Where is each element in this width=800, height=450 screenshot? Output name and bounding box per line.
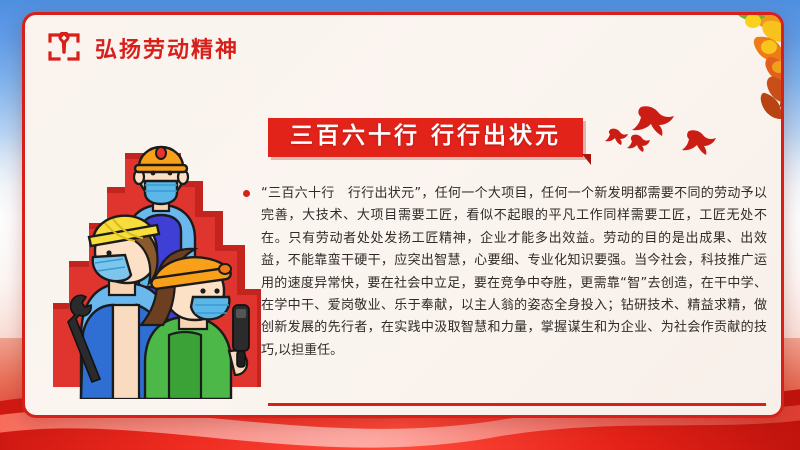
body-text: “三百六十行 行行出状元”，任何一个大项目，任何一个新发明都需要不同的劳动予以完… [261, 186, 767, 358]
header: 弘扬劳动精神 [47, 32, 239, 64]
section-title-banner: 三百六十行 行行出状元 [268, 118, 583, 157]
wrench-icon [47, 32, 81, 64]
banner-title: 三百六十行 行行出状元 [290, 125, 561, 148]
red-divider-line [268, 403, 766, 406]
three-workers-illustration [53, 127, 261, 399]
bullet-marker [243, 190, 250, 197]
flying-doves-icon [585, 103, 755, 165]
content-card: 弘扬劳动精神 [22, 12, 784, 418]
page-title: 弘扬劳动精神 [95, 32, 239, 64]
slide-root: 弘扬劳动精神 [0, 0, 800, 450]
body-paragraph: “三百六十行 行行出状元”，任何一个大项目，任何一个新发明都需要不同的劳动予以完… [261, 183, 767, 362]
